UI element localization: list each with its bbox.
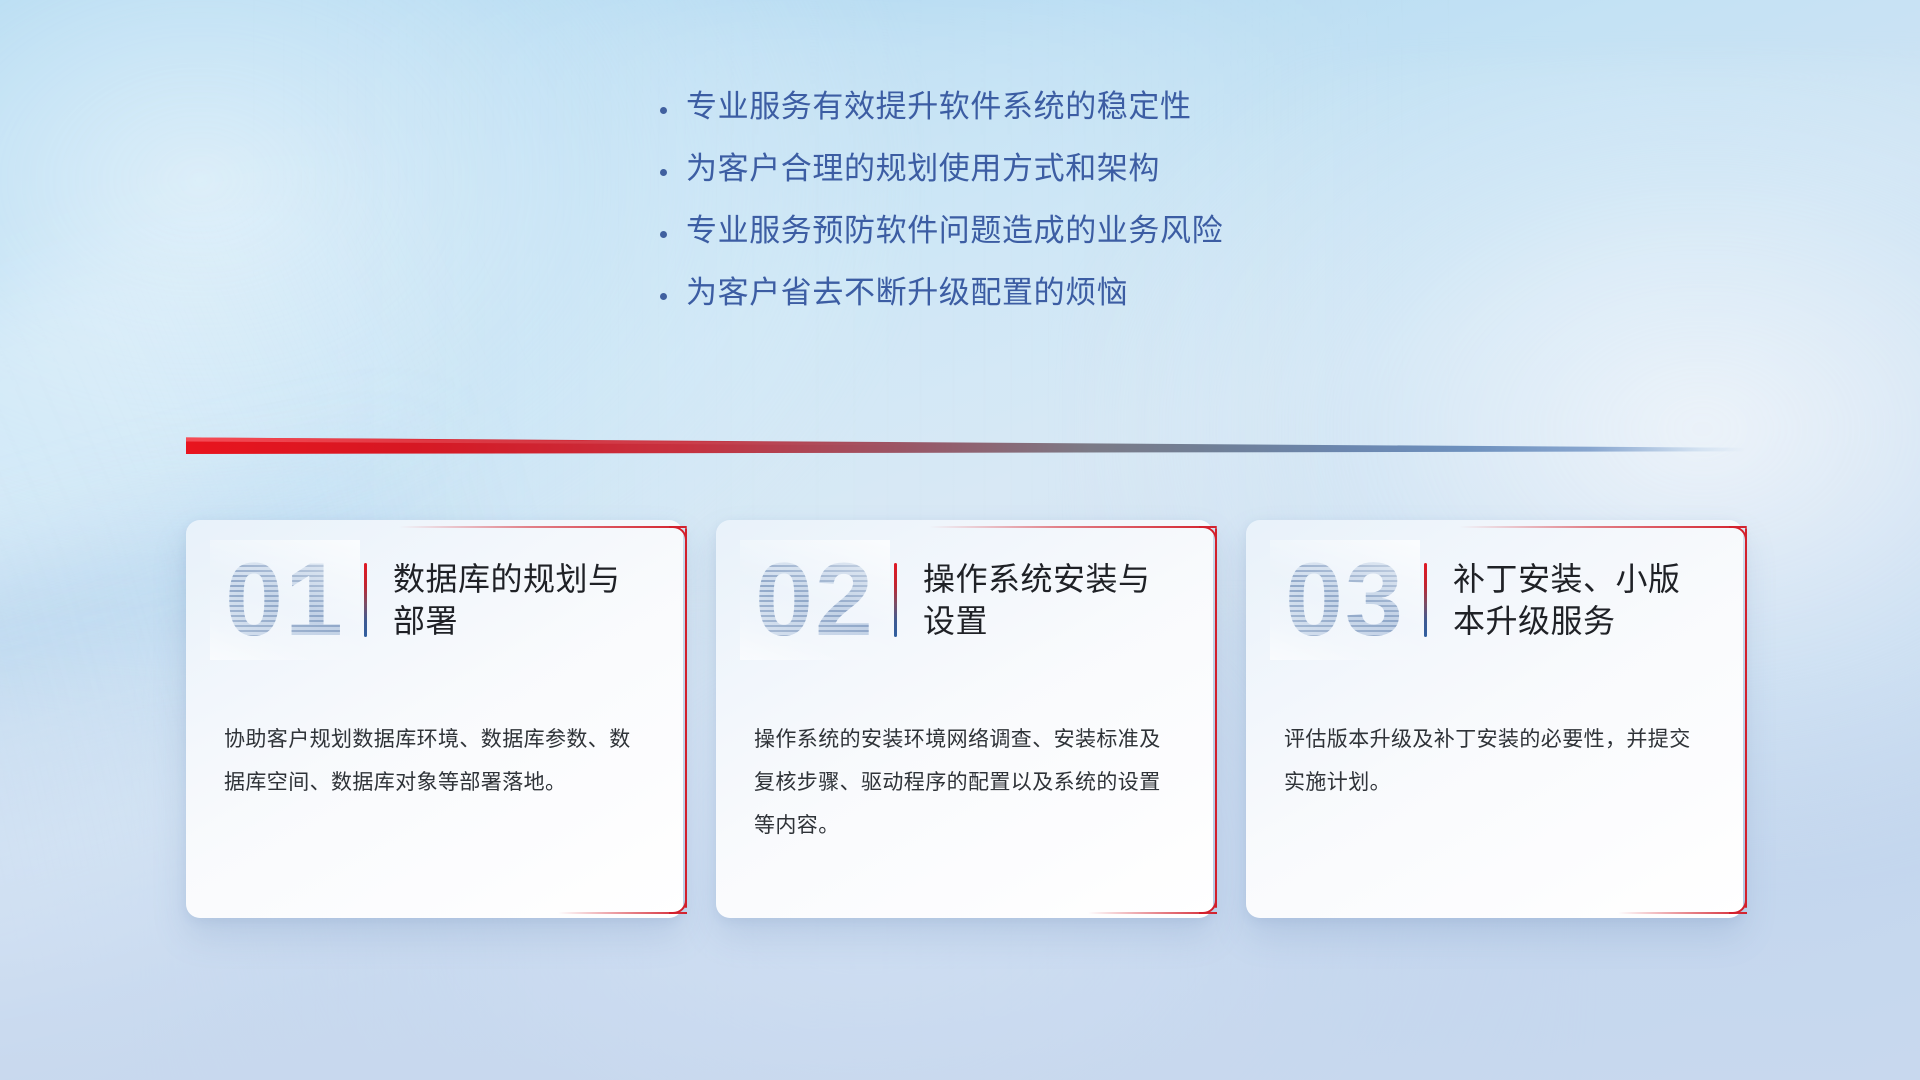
card-description: 评估版本升级及补丁安装的必要性，并提交实施计划。 (1284, 718, 1709, 804)
card-header: 01 数据库的规划与部署 (186, 520, 683, 680)
card-title: 操作系统安装与设置 (923, 558, 1173, 642)
benefits-bullet-list: 专业服务有效提升软件系统的稳定性 为客户合理的规划使用方式和架构 专业服务预防软… (660, 88, 1480, 336)
bullet-dot-icon (660, 231, 686, 238)
card-header: 03 补丁安装、小版本升级服务 (1246, 520, 1743, 680)
slide-root: 专业服务有效提升软件系统的稳定性 为客户合理的规划使用方式和架构 专业服务预防软… (0, 0, 1920, 1080)
card-number-text: 01 (210, 540, 360, 660)
bullet-dot-icon (660, 169, 686, 176)
card-title-rule-icon (364, 563, 367, 637)
bullet-dot-icon (660, 293, 686, 300)
bullet-item: 专业服务预防软件问题造成的业务风险 (660, 212, 1480, 264)
bullet-item: 为客户省去不断升级配置的烦恼 (660, 274, 1480, 326)
bullet-text: 为客户合理的规划使用方式和架构 (686, 150, 1160, 187)
card-description: 协助客户规划数据库环境、数据库参数、数据库空间、数据库对象等部署落地。 (224, 718, 649, 804)
card-title: 补丁安装、小版本升级服务 (1453, 558, 1703, 642)
card-title-rule-icon (1424, 563, 1427, 637)
bullet-text: 专业服务预防软件问题造成的业务风险 (686, 212, 1223, 249)
section-divider (186, 428, 1746, 454)
card-number-watermark: 03 (1270, 540, 1420, 660)
bullet-dot-icon (660, 107, 686, 114)
service-card[interactable]: 03 补丁安装、小版本升级服务 评估版本升级及补丁安装的必要性，并提交实施计划。 (1246, 520, 1743, 918)
card-number-watermark: 02 (740, 540, 890, 660)
card-number-text: 02 (740, 540, 890, 660)
card-number-watermark: 01 (210, 540, 360, 660)
bullet-item: 为客户合理的规划使用方式和架构 (660, 150, 1480, 202)
service-card-group: 01 数据库的规划与部署 协助客户规划数据库环境、数据库参数、数据库空间、数据库… (186, 520, 1746, 920)
bullet-text: 为客户省去不断升级配置的烦恼 (686, 274, 1128, 311)
card-title-rule-icon (894, 563, 897, 637)
bullet-text: 专业服务有效提升软件系统的稳定性 (686, 88, 1192, 125)
service-card[interactable]: 01 数据库的规划与部署 协助客户规划数据库环境、数据库参数、数据库空间、数据库… (186, 520, 683, 918)
card-number-text: 03 (1270, 540, 1420, 660)
card-title: 数据库的规划与部署 (393, 558, 643, 642)
card-description: 操作系统的安装环境网络调查、安装标准及复核步骤、驱动程序的配置以及系统的设置等内… (754, 718, 1179, 847)
card-header: 02 操作系统安装与设置 (716, 520, 1213, 680)
bullet-item: 专业服务有效提升软件系统的稳定性 (660, 88, 1480, 140)
service-card[interactable]: 02 操作系统安装与设置 操作系统的安装环境网络调查、安装标准及复核步骤、驱动程… (716, 520, 1213, 918)
